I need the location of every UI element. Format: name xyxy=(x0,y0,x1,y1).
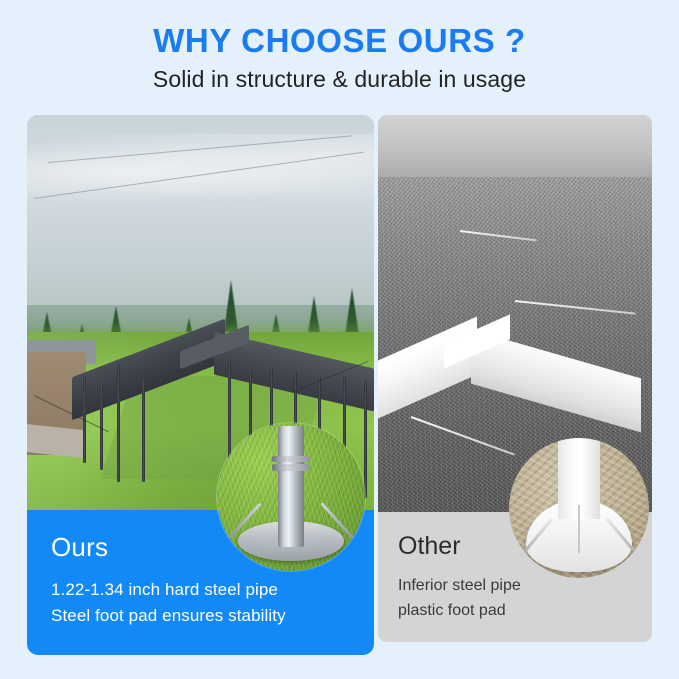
ours-label-title: Ours xyxy=(51,534,108,560)
page-header: WHY CHOOSE OURS ? Solid in structure & d… xyxy=(0,0,679,112)
other-feature-line-2: plastic foot pad xyxy=(398,603,506,619)
page-subtitle: Solid in structure & durable in usage xyxy=(0,68,679,91)
ours-feature-line-1: 1.22-1.34 inch hard steel pipe xyxy=(51,581,278,598)
other-footpad-inset xyxy=(509,438,649,578)
other-feature-line-1: Inferior steel pipe xyxy=(398,578,521,594)
steel-pipe-collar-lower xyxy=(272,464,310,471)
ours-feature-line-2: Steel foot pad ensures stability xyxy=(51,607,286,624)
comparison-board: Other Inferior steel pipe plastic foot p… xyxy=(27,115,652,655)
other-label-title: Other xyxy=(398,534,461,559)
steel-pipe-collar-upper xyxy=(272,456,310,463)
ours-footpad-inset xyxy=(217,423,365,571)
plastic-pad-seam xyxy=(578,505,580,553)
horizon-band xyxy=(378,115,652,177)
carport-leg xyxy=(142,380,145,483)
carport-leg xyxy=(117,364,120,483)
ours-card: Ours 1.22-1.34 inch hard steel pipe Stee… xyxy=(27,115,374,655)
garden-path xyxy=(27,424,83,457)
page-title: WHY CHOOSE OURS ? xyxy=(0,24,679,57)
other-card: Other Inferior steel pipe plastic foot p… xyxy=(378,115,652,642)
steel-pipe xyxy=(278,426,305,547)
